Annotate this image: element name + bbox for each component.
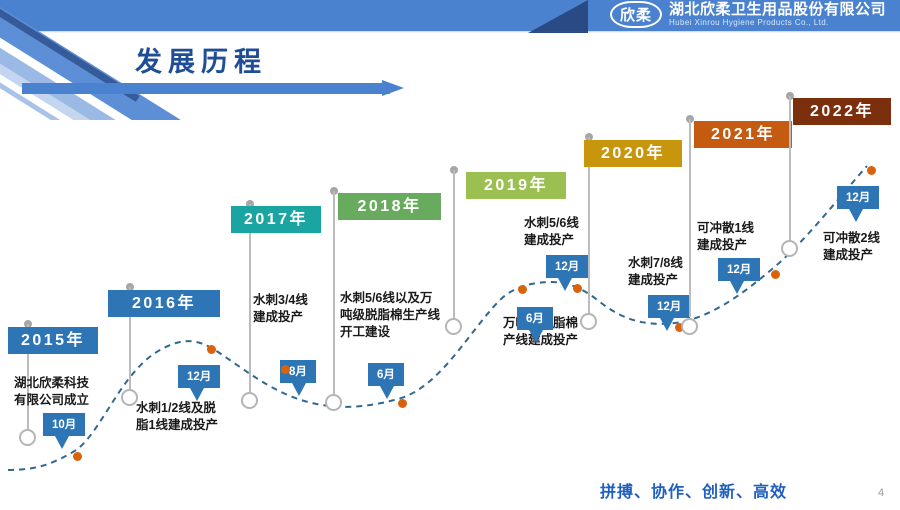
milestone-description-2021年-7: 可冲散1线 建成投产 xyxy=(697,220,754,254)
year-tag-2016年[interactable]: 2016年 xyxy=(108,290,220,317)
timeline-pole-2019年 xyxy=(453,170,455,330)
month-callout-2020年-6[interactable]: 12月 xyxy=(648,295,690,318)
company-name-cn: 湖北欣柔卫生用品股份有限公司 xyxy=(669,2,886,17)
company-name-en: Hubei Xinrou Hygiene Products Co., Ltd. xyxy=(669,17,886,28)
month-callout-label: 12月 xyxy=(837,186,879,209)
page-number: 4 xyxy=(878,487,884,499)
milestone-dot-2016年-1[interactable] xyxy=(207,345,216,354)
company-logo-mark: 欣柔 xyxy=(610,1,662,28)
milestone-dot-2015年-0[interactable] xyxy=(73,452,82,461)
year-tag-2021年[interactable]: 2021年 xyxy=(694,121,792,148)
year-tag-2015年[interactable]: 2015年 xyxy=(8,327,98,354)
milestone-description-2018年-3: 水刺5/6线以及万 吨级脱脂棉生产线 开工建设 xyxy=(340,290,440,341)
title-arrow-body xyxy=(22,83,390,94)
month-callout-label: 6月 xyxy=(517,307,553,330)
milestone-dot-2022年-8[interactable] xyxy=(867,166,876,175)
timeline-node-circle-2018年[interactable] xyxy=(325,394,342,411)
milestone-dot-2019年-b-5[interactable] xyxy=(573,284,582,293)
year-tag-2020年[interactable]: 2020年 xyxy=(584,140,682,167)
month-callout-2016年-1[interactable]: 12月 xyxy=(178,365,220,388)
year-tag-2017年[interactable]: 2017年 xyxy=(231,206,321,233)
milestone-dot-2017年-2[interactable] xyxy=(281,365,290,374)
milestone-description-2016年-1: 水刺1/2线及脱 脂1线建成投产 xyxy=(136,400,218,434)
timeline-pole-2022年 xyxy=(789,96,791,251)
month-callout-2019年-b-5[interactable]: 12月 xyxy=(546,255,588,278)
timeline-node-circle-2020年[interactable] xyxy=(580,313,597,330)
timeline-node-circle-2019年[interactable] xyxy=(445,318,462,335)
timeline-pole-2017年 xyxy=(249,204,251,404)
year-tag-2018年[interactable]: 2018年 xyxy=(338,193,441,220)
year-tag-2019年[interactable]: 2019年 xyxy=(466,172,566,199)
callout-pointer-icon xyxy=(660,318,674,331)
company-logo-block: 欣柔 湖北欣柔卫生用品股份有限公司 Hubei Xinrou Hygiene P… xyxy=(610,1,886,28)
month-callout-label: 12月 xyxy=(718,258,760,281)
callout-pointer-icon xyxy=(849,209,863,222)
month-callout-label: 12月 xyxy=(546,255,588,278)
timeline-node-circle-2021年[interactable] xyxy=(681,318,698,335)
timeline-node-circle-2017年[interactable] xyxy=(241,392,258,409)
timeline-pole-2018年 xyxy=(333,191,335,404)
page-title: 发展历程 xyxy=(135,40,267,79)
callout-pointer-icon xyxy=(730,281,744,294)
title-arrow-head xyxy=(382,80,404,96)
footer-slogan: 拼搏、协作、创新、高效 xyxy=(600,478,787,502)
milestone-description-2019年-b-5: 水刺5/6线 建成投产 xyxy=(524,215,579,249)
month-callout-2015年-0[interactable]: 10月 xyxy=(43,413,85,436)
callout-pointer-icon xyxy=(558,278,572,291)
milestone-dot-2019年-4[interactable] xyxy=(518,285,527,294)
month-callout-2018年-3[interactable]: 6月 xyxy=(368,363,404,386)
milestone-description-2020年-6: 水刺7/8线 建成投产 xyxy=(628,255,683,289)
month-callout-2022年-8[interactable]: 12月 xyxy=(837,186,879,209)
callout-pointer-icon xyxy=(380,386,394,399)
month-callout-label: 12月 xyxy=(648,295,690,318)
callout-pointer-icon xyxy=(190,388,204,401)
timeline-node-circle-2022年[interactable] xyxy=(781,240,798,257)
timeline-node-circle-2015年[interactable] xyxy=(19,429,36,446)
month-callout-label: 12月 xyxy=(178,365,220,388)
month-callout-2019年-4[interactable]: 6月 xyxy=(517,307,553,330)
month-callout-label: 10月 xyxy=(43,413,85,436)
callout-pointer-icon xyxy=(55,436,69,449)
year-tag-2022年[interactable]: 2022年 xyxy=(793,98,891,125)
callout-pointer-icon xyxy=(529,330,543,343)
milestone-dot-2021年-7[interactable] xyxy=(771,270,780,279)
title-arrow xyxy=(22,80,412,96)
milestone-dot-2018年-3[interactable] xyxy=(398,399,407,408)
milestone-description-2022年-8: 可冲散2线 建成投产 xyxy=(823,230,880,264)
milestone-description-2015年-0: 湖北欣柔科技 有限公司成立 xyxy=(14,375,89,409)
month-callout-label: 6月 xyxy=(368,363,404,386)
milestone-description-2017年-2: 水刺3/4线 建成投产 xyxy=(253,292,308,326)
month-callout-2021年-7[interactable]: 12月 xyxy=(718,258,760,281)
timeline-pole-2021年 xyxy=(689,119,691,317)
callout-pointer-icon xyxy=(292,383,306,396)
